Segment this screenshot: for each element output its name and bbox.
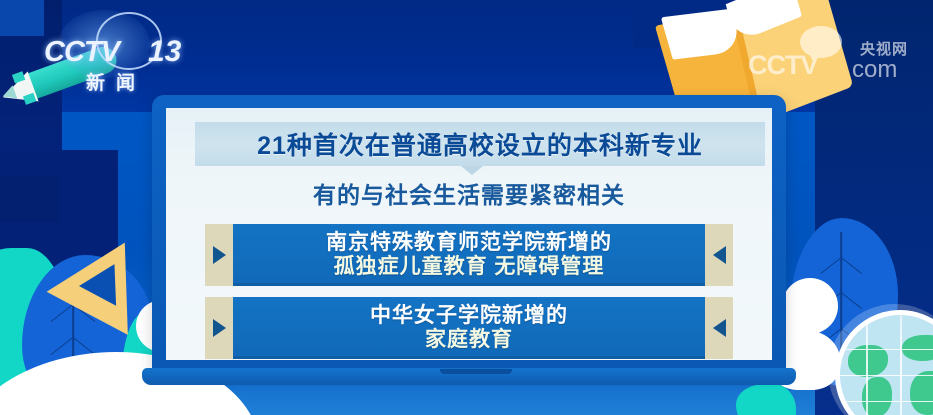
globe-parallel bbox=[835, 349, 933, 350]
leaf-rib bbox=[820, 257, 842, 274]
headline-band: 21种首次在普通高校设立的本科新专业 bbox=[195, 122, 765, 166]
info-line-secondary: 孤独症儿童教育 无障碍管理 bbox=[334, 255, 605, 279]
globe-parallel bbox=[835, 375, 933, 376]
arrow-cell-right bbox=[705, 297, 733, 359]
info-box: 中华女子学院新增的 家庭教育 bbox=[233, 297, 705, 359]
info-line-secondary: 家庭教育 bbox=[425, 328, 513, 352]
globe-land bbox=[910, 371, 933, 415]
info-line-primary: 中华女子学院新增的 bbox=[370, 304, 568, 328]
info-row: 中华女子学院新增的 家庭教育 bbox=[205, 297, 733, 359]
subtitle: 有的与社会生活需要紧密相关 bbox=[166, 176, 772, 210]
arrow-cell-right bbox=[705, 224, 733, 286]
cctv-com-watermark: CCTV com 央视网 bbox=[748, 40, 928, 86]
triangle-right-icon bbox=[213, 319, 226, 337]
background-corner-top-left bbox=[0, 0, 44, 36]
cctv13-logo: CCTV 13 新闻 bbox=[44, 8, 194, 94]
page-title: 21种首次在普通高校设立的本科新专业 bbox=[257, 126, 703, 162]
headline-band-tick bbox=[461, 166, 483, 175]
watermark-domain: com bbox=[852, 56, 897, 84]
background-corner-left bbox=[0, 176, 60, 222]
watermark-chinese: 央视网 bbox=[860, 38, 908, 59]
watermark-brand: CCTV bbox=[748, 50, 818, 81]
triangle-left-icon bbox=[713, 319, 726, 337]
logo-channel-name: 新闻 bbox=[86, 68, 146, 95]
leaf-rib bbox=[841, 293, 863, 310]
info-line-primary: 南京特殊教育师范学院新增的 bbox=[326, 231, 612, 255]
broadcast-screenshot: 21种首次在普通高校设立的本科新专业 有的与社会生活需要紧密相关 南京特殊教育师… bbox=[0, 0, 933, 415]
leaf-rib bbox=[51, 337, 74, 355]
globe-parallel bbox=[835, 401, 933, 402]
info-row: 南京特殊教育师范学院新增的 孤独症儿童教育 无障碍管理 bbox=[205, 224, 733, 286]
triangle-left-icon bbox=[713, 246, 726, 264]
logo-channel-number: 13 bbox=[148, 35, 181, 69]
globe-meridian bbox=[900, 310, 902, 415]
arrow-cell-left bbox=[205, 297, 233, 359]
leaf-rib bbox=[841, 257, 863, 274]
teal-blob-right bbox=[736, 384, 796, 415]
globe-land bbox=[848, 345, 888, 377]
arrow-cell-left bbox=[205, 224, 233, 286]
laptop-notch bbox=[440, 369, 512, 374]
leaf-rib bbox=[51, 304, 74, 322]
triangle-right-icon bbox=[213, 246, 226, 264]
info-box: 南京特殊教育师范学院新增的 孤独症儿童教育 无障碍管理 bbox=[233, 224, 705, 286]
